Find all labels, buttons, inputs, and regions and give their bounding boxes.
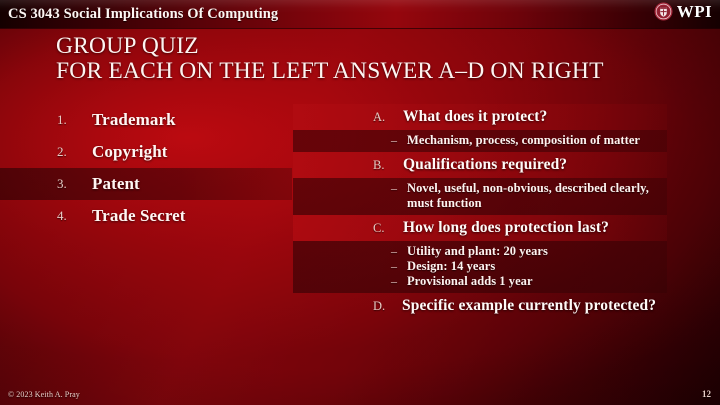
list-item[interactable]: 4. Trade Secret: [0, 200, 295, 232]
sub-bullet-group: – Utility and plant: 20 years – Design: …: [293, 241, 673, 293]
header-bar: CS 3043 Social Implications Of Computing…: [0, 0, 720, 28]
dash-bullet-icon: –: [391, 181, 407, 196]
sub-bullet-group: – Mechanism, process, composition of mat…: [293, 130, 673, 152]
sub-bullet-text: Mechanism, process, composition of matte…: [407, 133, 667, 148]
highlight-band: [0, 168, 292, 200]
list-item-label: Trade Secret: [92, 206, 186, 226]
slide-title-line2: FOR EACH ON THE LEFT ANSWER A–D ON RIGHT: [56, 59, 696, 84]
list-item-number: 1.: [57, 112, 92, 128]
wpi-brand: WPI: [654, 2, 712, 21]
dash-bullet-icon: –: [391, 259, 407, 274]
question-header[interactable]: C. How long does protection last?: [293, 215, 673, 241]
wpi-brand-text: WPI: [677, 3, 712, 20]
copyright-notice: © 2023 Keith A. Pray: [8, 390, 80, 399]
sub-bullet-group: – Novel, useful, non-obvious, described …: [293, 178, 673, 215]
wpi-seal-icon: [654, 2, 673, 21]
question-letter: A.: [373, 110, 403, 125]
question-text: What does it protect?: [403, 108, 547, 126]
slide-title: GROUP QUIZ FOR EACH ON THE LEFT ANSWER A…: [56, 34, 696, 84]
sub-bullet: – Design: 14 years: [293, 259, 673, 274]
question-letter: C.: [373, 221, 403, 236]
slide-canvas: CS 3043 Social Implications Of Computing…: [0, 0, 720, 405]
question-letter: D.: [373, 299, 402, 314]
question-letter: B.: [373, 158, 403, 173]
list-item-label: Trademark: [92, 110, 176, 130]
list-item-label: Copyright: [92, 142, 168, 162]
list-item[interactable]: 1. Trademark: [0, 104, 295, 136]
list-item-number: 3.: [57, 176, 92, 192]
sub-bullet-text: Design: 14 years: [407, 259, 667, 274]
right-question-list: A. What does it protect? – Mechanism, pr…: [293, 104, 673, 331]
sub-bullet-text: Novel, useful, non-obvious, described cl…: [407, 181, 667, 211]
slide-title-line1: GROUP QUIZ: [56, 34, 696, 59]
list-item-number: 2.: [57, 144, 92, 160]
question-text: Qualifications required?: [403, 156, 567, 174]
list-item-label: Patent: [92, 174, 140, 194]
dash-bullet-icon: –: [391, 244, 407, 259]
sub-bullet: – Provisional adds 1 year: [293, 274, 673, 289]
sub-bullet-text: Utility and plant: 20 years: [407, 244, 667, 259]
sub-bullet: – Novel, useful, non-obvious, described …: [293, 181, 673, 211]
course-title: CS 3043 Social Implications Of Computing: [8, 6, 278, 23]
question-text: Specific example currently protected?: [402, 297, 673, 314]
question-header[interactable]: B. Qualifications required?: [293, 152, 673, 178]
question-header[interactable]: A. What does it protect?: [293, 104, 673, 130]
question-block-b: B. Qualifications required? – Novel, use…: [293, 152, 673, 215]
sub-bullet: – Utility and plant: 20 years: [293, 244, 673, 259]
question-block-c: C. How long does protection last? – Util…: [293, 215, 673, 293]
question-block-a: A. What does it protect? – Mechanism, pr…: [293, 104, 673, 152]
list-item-highlighted[interactable]: 3. Patent: [0, 168, 295, 200]
question-header[interactable]: D. Specific example currently protected?: [293, 297, 673, 331]
question-block-d: D. Specific example currently protected?: [293, 297, 673, 331]
page-number: 12: [702, 389, 711, 399]
list-item[interactable]: 2. Copyright: [0, 136, 295, 168]
dash-bullet-icon: –: [391, 133, 407, 148]
dash-bullet-icon: –: [391, 274, 407, 289]
sub-bullet-text: Provisional adds 1 year: [407, 274, 667, 289]
list-item-number: 4.: [57, 208, 92, 224]
sub-bullet: – Mechanism, process, composition of mat…: [293, 133, 673, 148]
left-item-list: 1. Trademark 2. Copyright 3. Patent 4. T…: [0, 104, 295, 234]
question-text: How long does protection last?: [403, 219, 609, 237]
